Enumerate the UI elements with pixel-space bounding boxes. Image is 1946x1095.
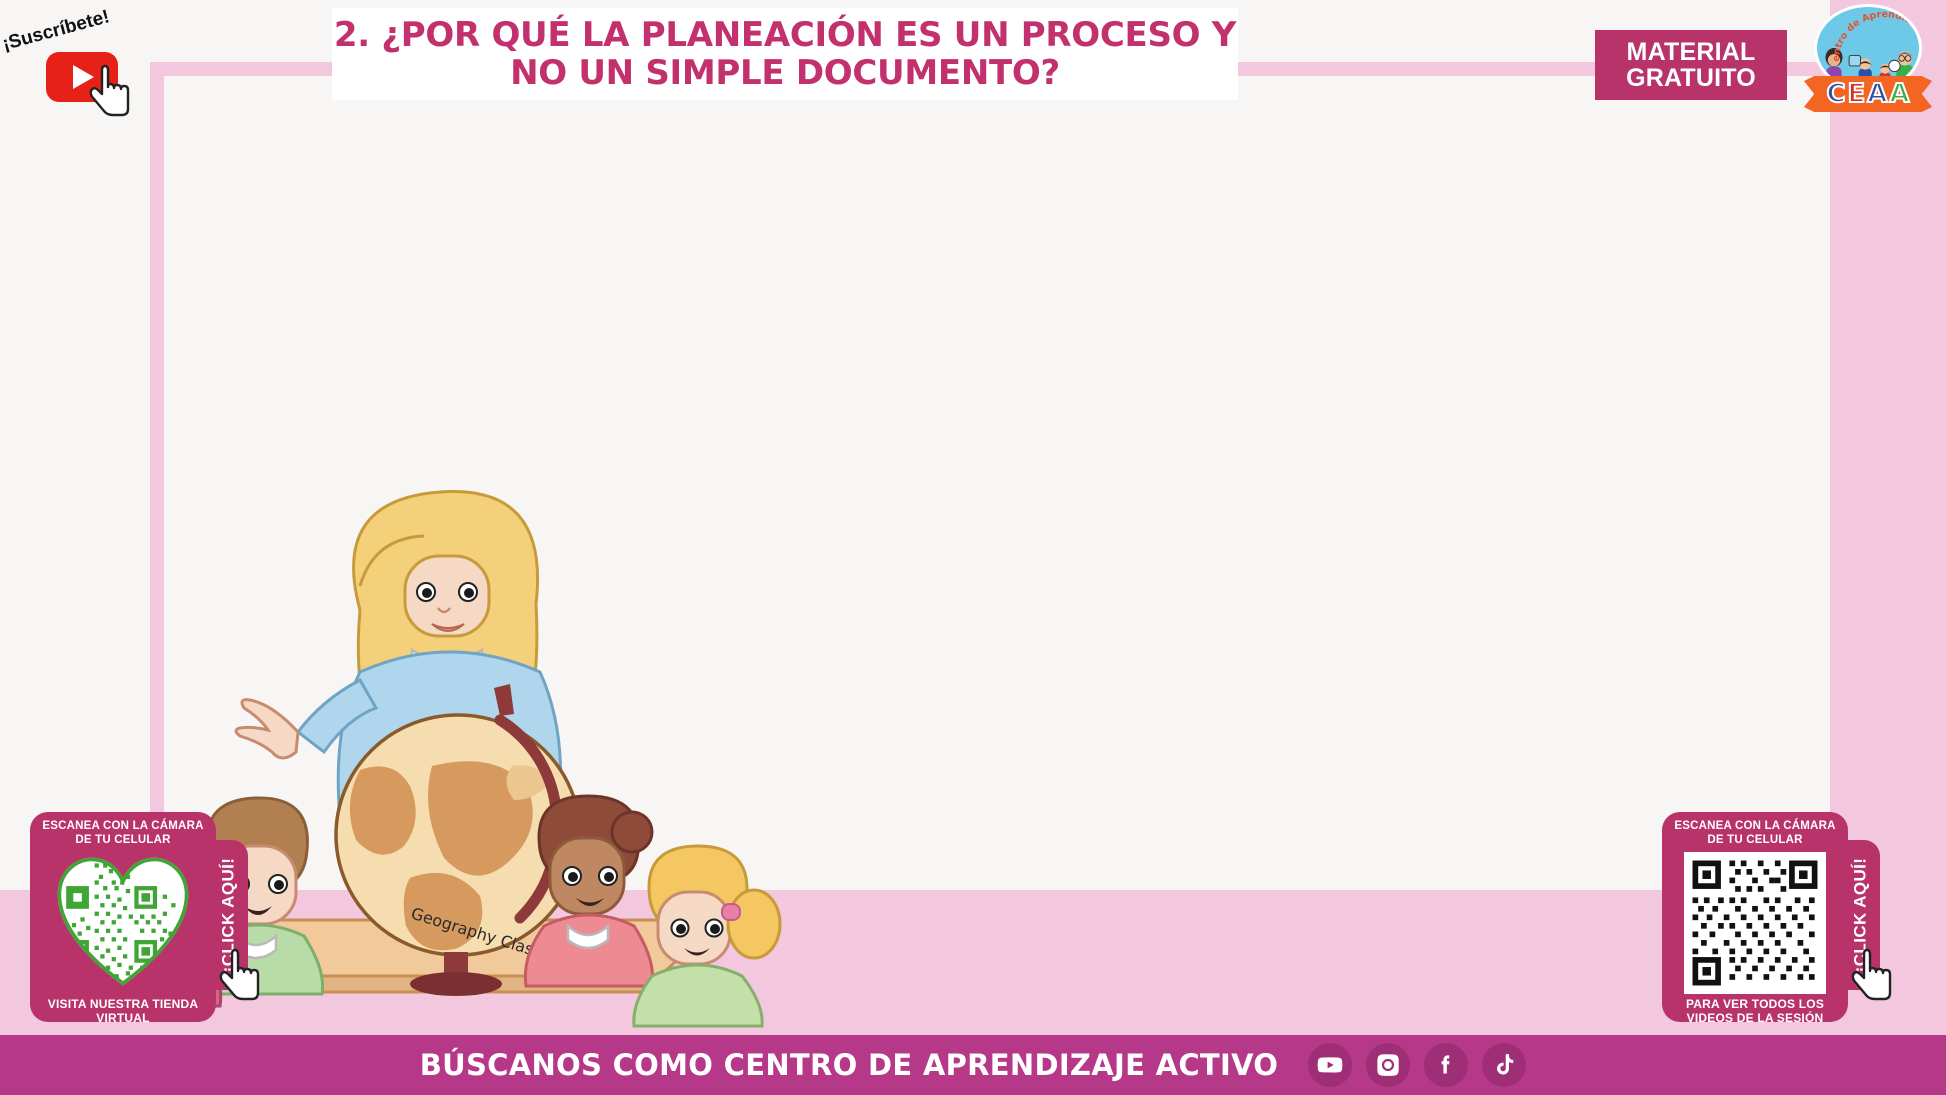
subscribe-badge[interactable]: ¡Suscríbete! bbox=[2, 4, 152, 104]
subscribe-label: ¡Suscríbete! bbox=[0, 6, 112, 56]
qr-left-footer: VISITA NUESTRA TIENDA VIRTUAL bbox=[36, 998, 210, 1026]
social-links bbox=[1308, 1043, 1526, 1087]
logo-ribbon: C E A A bbox=[1804, 76, 1932, 112]
logo-letter-2: E bbox=[1848, 79, 1866, 109]
qr-right-footer: PARA VER TODOS LOS VIDEOS DE LA SESIÓN bbox=[1668, 998, 1842, 1026]
footer-text: BÚSCANOS COMO CENTRO DE APRENDIZAJE ACTI… bbox=[420, 1048, 1279, 1082]
title-banner: 2. ¿POR QUÉ LA PLANEACIÓN ES UN PROCESO … bbox=[332, 8, 1238, 100]
footer-bar: BÚSCANOS COMO CENTRO DE APRENDIZAJE ACTI… bbox=[0, 1035, 1946, 1095]
svg-text:Centro de Aprendizaje Activo: Centro de Aprendizaje Activo bbox=[1831, 9, 1922, 63]
material-gratuito-badge: MATERIAL GRATUITO bbox=[1595, 30, 1787, 100]
badge-line-1: MATERIAL bbox=[1627, 39, 1756, 65]
qr-card-store[interactable]: ESCANEA CON LA CÁMARA DE TU CELULAR bbox=[30, 812, 216, 1022]
facebook-icon[interactable] bbox=[1424, 1043, 1468, 1087]
ceaa-logo: Centro de Aprendizaje Activo C E A A bbox=[1800, 2, 1936, 114]
click-here-label-right: ¡CLICK AQUÍ! bbox=[1850, 858, 1870, 973]
youtube-icon[interactable] bbox=[1308, 1043, 1352, 1087]
logo-letter-3: A bbox=[1867, 79, 1887, 109]
page-title: 2. ¿POR QUÉ LA PLANEACIÓN ES UN PROCESO … bbox=[334, 16, 1236, 92]
logo-letter-1: C bbox=[1826, 79, 1845, 109]
logo-letter-4: A bbox=[1889, 79, 1909, 109]
badge-line-2: GRATUITO bbox=[1626, 65, 1756, 91]
click-here-label-left: ¡CLICK AQUÍ! bbox=[218, 858, 238, 973]
title-line-2: NO UN SIMPLE DOCUMENTO? bbox=[334, 54, 1236, 92]
frame-right-band bbox=[1830, 0, 1946, 890]
instagram-icon[interactable] bbox=[1366, 1043, 1410, 1087]
qr-card-videos[interactable]: ESCANEA CON LA CÁMARA DE TU CELULAR bbox=[1662, 812, 1848, 1022]
heart-qr-code[interactable] bbox=[52, 852, 194, 994]
qr-right-heading: ESCANEA CON LA CÁMARA DE TU CELULAR bbox=[1668, 820, 1842, 847]
youtube-play-icon[interactable] bbox=[46, 52, 118, 102]
title-line-1: 2. ¿POR QUÉ LA PLANEACIÓN ES UN PROCESO … bbox=[334, 16, 1236, 54]
square-qr-code[interactable] bbox=[1684, 852, 1826, 994]
tiktok-icon[interactable] bbox=[1482, 1043, 1526, 1087]
qr-left-heading: ESCANEA CON LA CÁMARA DE TU CELULAR bbox=[36, 820, 210, 847]
